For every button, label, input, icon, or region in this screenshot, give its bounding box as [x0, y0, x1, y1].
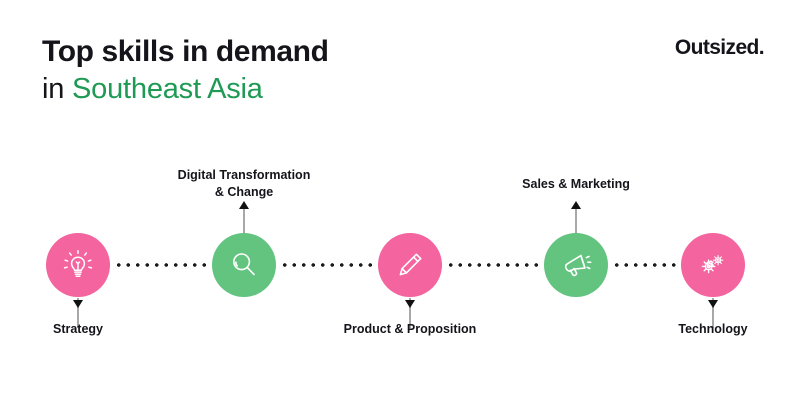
timeline: Strategy Digital Transformation & Change [0, 0, 800, 400]
stem-digital-transformation [243, 206, 245, 234]
megaphone-icon [559, 248, 593, 282]
node-digital-transformation-change[interactable] [212, 233, 276, 297]
connector-segment-3 [446, 263, 542, 267]
node-sales-marketing[interactable] [544, 233, 608, 297]
node-label-sales-marketing: Sales & Marketing [498, 176, 654, 193]
node-technology[interactable] [681, 233, 745, 297]
arrowhead-technology [708, 300, 718, 308]
node-strategy[interactable] [46, 233, 110, 297]
magnifier-icon [227, 248, 261, 282]
lightbulb-icon [61, 248, 95, 282]
pencil-icon [393, 248, 427, 282]
arrowhead-sales-marketing [571, 201, 581, 209]
connector-segment-1 [114, 263, 210, 267]
arrowhead-product-proposition [405, 300, 415, 308]
node-label-digital-transformation-change: Digital Transformation & Change [166, 167, 322, 201]
stem-sales-marketing [575, 206, 577, 234]
gears-icon [696, 248, 730, 282]
infographic-canvas: Top skills in demand in Southeast Asia O… [0, 0, 800, 400]
node-product-proposition[interactable] [378, 233, 442, 297]
arrowhead-digital-transformation [239, 201, 249, 209]
arrowhead-strategy [73, 300, 83, 308]
node-label-strategy: Strategy [0, 321, 156, 338]
node-label-product-proposition: Product & Proposition [332, 321, 488, 338]
node-label-technology: Technology [635, 321, 791, 338]
connector-segment-2 [280, 263, 376, 267]
connector-segment-4 [612, 263, 680, 267]
